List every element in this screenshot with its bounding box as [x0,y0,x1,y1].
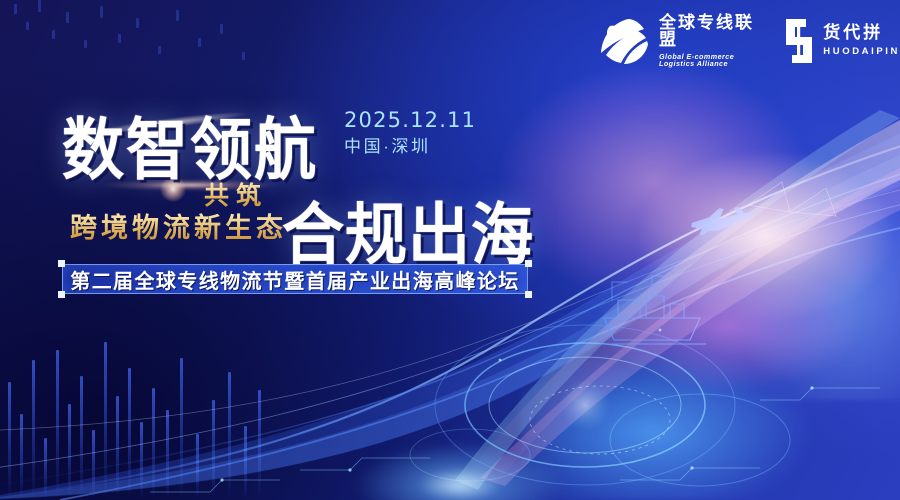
event-poster: 全球专线联盟 Global E-commerce Logistics Allia… [0,0,900,500]
banner-corner-bottom-right [525,291,532,298]
alliance-logo[interactable]: 全球专线联盟 Global E-commerce Logistics Allia… [598,14,768,67]
alliance-en-name: Global E-commerce Logistics Alliance [659,53,768,67]
cargo-ship-icon [600,296,706,344]
forum-banner: 第二届全球专线物流节暨首届产业出海高峰论坛 [58,260,532,298]
banner-corner-bottom-left [58,291,65,298]
h-block-icon [784,19,814,63]
globe-swoosh-icon [598,17,650,65]
huodaipin-en-name: HUODAIPIN [823,47,900,57]
banner-corner-top-left [58,260,65,267]
page-title-main: 数智领航 [62,95,318,192]
huodaipin-cn-name: 货代拼 [823,24,900,41]
color-ribbon-lower-decor [520,230,900,500]
logo-row: 全球专线联盟 Global E-commerce Logistics Allia… [598,14,900,67]
event-date-block: 2025.12.11 中国·深圳 [344,108,476,157]
forum-banner-title: 第二届全球专线物流节暨首届产业出海高峰论坛 [70,265,519,294]
color-ribbon-decor [480,60,900,400]
event-location: 中国·深圳 [344,137,476,158]
tagline-gold-bottom: 跨境物流新生态 [70,206,287,245]
huodaipin-logo[interactable]: 货代拼 HUODAIPIN [784,19,900,63]
center-glow-decor [300,395,620,500]
banner-corner-top-right [525,260,532,267]
event-date: 2025.12.11 [344,108,476,134]
forum-banner-bar: 第二届全球专线物流节暨首届产业出海高峰论坛 [62,264,528,294]
airplane-silhouette-icon [691,207,751,235]
alliance-cn-name: 全球专线联盟 [659,14,768,48]
